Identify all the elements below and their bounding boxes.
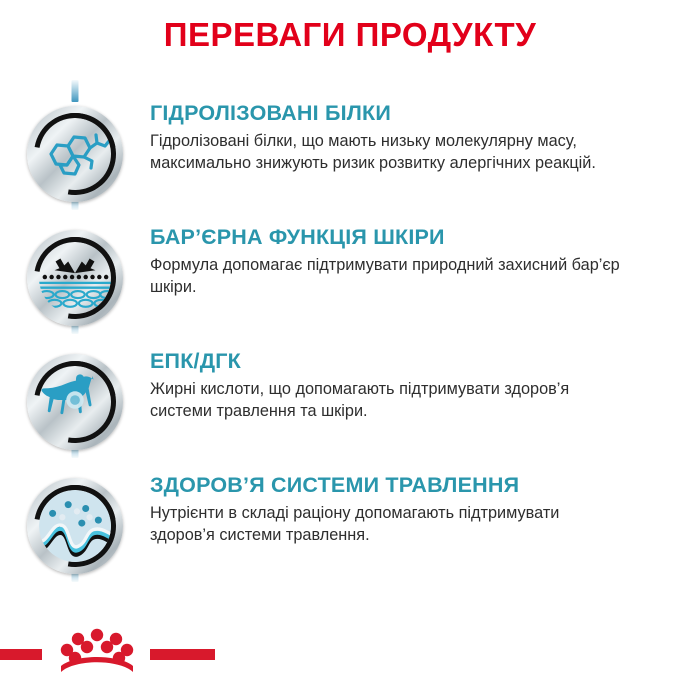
digestive-health-icon [39,490,111,562]
benefit-body: Нутрієнти в складі раціону допомагають п… [150,502,620,546]
icon-disc [27,478,123,574]
benefit-text-column: ЕПК/ДГК Жирні кислоти, що допомагають пі… [150,346,700,422]
molecule-icon [39,118,111,190]
benefit-item: ГІДРОЛІЗОВАНІ БІЛКИ Гідролізовані білки,… [0,98,700,222]
benefits-list: ГІДРОЛІЗОВАНІ БІЛКИ Гідролізовані білки,… [0,98,700,594]
logo-bar-left [0,649,42,660]
benefit-icon-column [0,222,150,326]
benefit-icon-column [0,346,150,450]
benefit-heading: ЗДОРОВ’Я СИСТЕМИ ТРАВЛЕННЯ [150,474,664,497]
crown-icon [45,628,149,674]
benefit-heading: ЕПК/ДГК [150,350,664,373]
benefit-body: Формула допомагає підтримувати природний… [150,254,620,298]
royal-canin-logo [0,618,215,678]
product-benefits-page: { "title": "ПЕРЕВАГИ ПРОДУКТУ", "colors"… [0,0,700,700]
benefit-heading: БАР’ЄРНА ФУНКЦІЯ ШКІРИ [150,226,664,249]
benefit-item: БАР’ЄРНА ФУНКЦІЯ ШКІРИ Формула допомагає… [0,222,700,346]
benefit-item: ЕПК/ДГК Жирні кислоти, що допомагають пі… [0,346,700,470]
benefit-body: Жирні кислоти, що допомагають підтримува… [150,378,620,422]
benefit-text-column: ЗДОРОВ’Я СИСТЕМИ ТРАВЛЕННЯ Нутрієнти в с… [150,470,700,546]
icon-disc [27,106,123,202]
benefit-body: Гідролізовані білки, що мають низьку мол… [150,130,620,174]
icon-disc [27,354,123,450]
benefit-text-column: БАР’ЄРНА ФУНКЦІЯ ШКІРИ Формула допомагає… [150,222,700,298]
logo-bar-right [150,649,215,660]
icon-disc [27,230,123,326]
page-title: ПЕРЕВАГИ ПРОДУКТУ [0,0,700,51]
benefit-icon-column [0,470,150,574]
dog-icon [39,366,111,438]
skin-barrier-icon [39,242,111,314]
benefit-heading: ГІДРОЛІЗОВАНІ БІЛКИ [150,102,664,125]
benefit-icon-column [0,98,150,202]
benefit-item: ЗДОРОВ’Я СИСТЕМИ ТРАВЛЕННЯ Нутрієнти в с… [0,470,700,594]
connector-line-top [72,80,79,102]
benefit-text-column: ГІДРОЛІЗОВАНІ БІЛКИ Гідролізовані білки,… [150,98,700,174]
